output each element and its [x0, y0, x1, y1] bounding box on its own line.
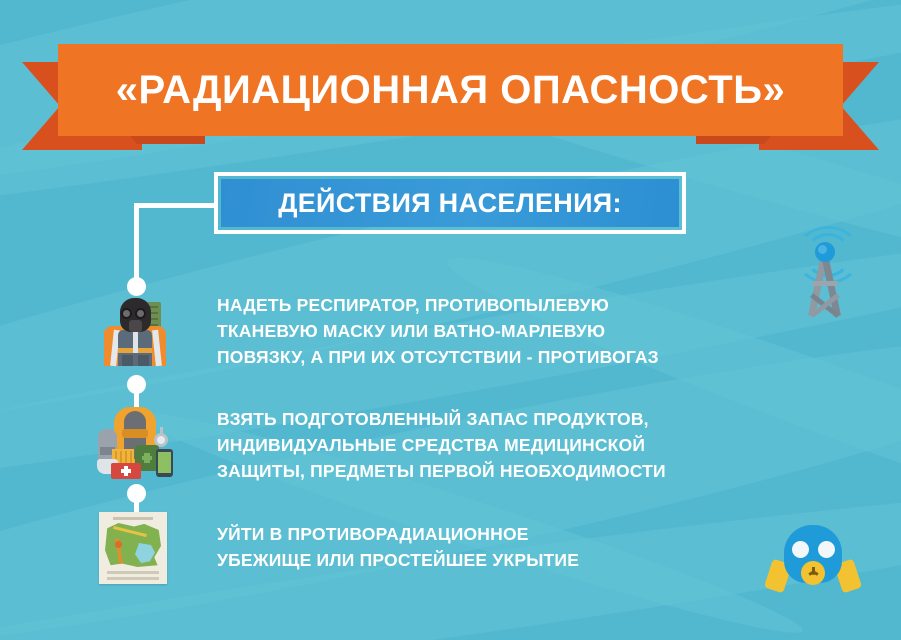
poster-canvas: «РАДИАЦИОННАЯ ОПАСНОСТЬ» ДЕЙСТВИЯ НАСЕЛЕ… — [0, 0, 901, 640]
radiation-trefoil-icon — [808, 568, 818, 578]
backpack-supplies-icon — [96, 405, 176, 477]
connector-end-dot — [127, 277, 146, 296]
map-icon — [99, 512, 167, 584]
connector-vertical — [134, 203, 139, 285]
step-text-3: УЙТИ В ПРОТИВОРАДИАЦИОННОЕ УБЕЖИЩЕ ИЛИ П… — [217, 521, 579, 573]
section-header-box: ДЕЙСТВИЯ НАСЕЛЕНИЯ: — [214, 172, 686, 234]
section-header-label: ДЕЙСТВИЯ НАСЕЛЕНИЯ: — [278, 188, 622, 219]
step-text-1: НАДЕТЬ РЕСПИРАТОР, ПРОТИВОПЫЛЕВУЮ ТКАНЕВ… — [217, 292, 659, 370]
person-respirator-icon — [100, 296, 174, 366]
section-header-fill: ДЕЙСТВИЯ НАСЕЛЕНИЯ: — [221, 179, 679, 227]
poster-title: «РАДИАЦИОННАЯ ОПАСНОСТЬ» — [116, 68, 785, 113]
radio-tower-icon — [786, 230, 864, 316]
ribbon-band: «РАДИАЦИОННАЯ ОПАСНОСТЬ» — [58, 44, 843, 136]
connector-horizontal — [134, 203, 218, 208]
title-ribbon: «РАДИАЦИОННАЯ ОПАСНОСТЬ» — [0, 44, 901, 154]
step-text-2: ВЗЯТЬ ПОДГОТОВЛЕННЫЙ ЗАПАС ПРОДУКТОВ, ИН… — [217, 406, 666, 484]
gas-mask-radiation-icon — [766, 525, 862, 601]
